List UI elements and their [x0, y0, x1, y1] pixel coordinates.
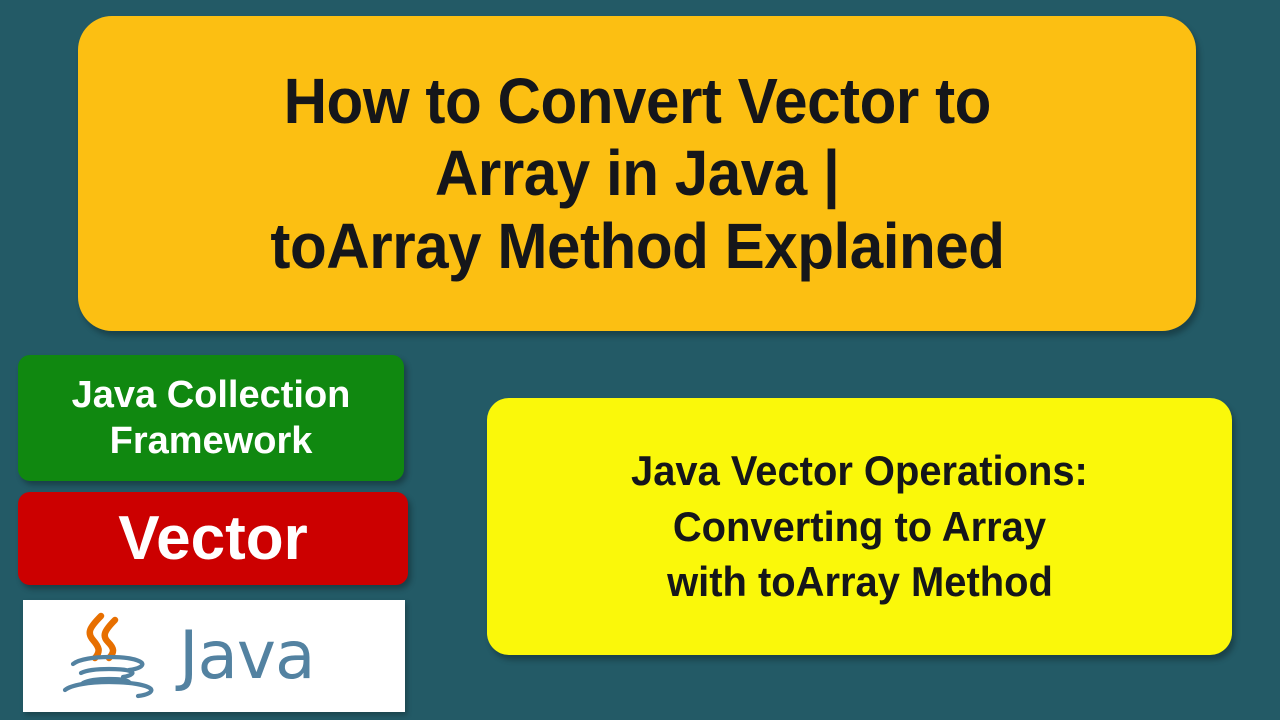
badge-framework-line-2: Framework: [110, 418, 313, 464]
subtitle-card: Java Vector Operations: Converting to Ar…: [487, 398, 1232, 655]
java-wordmark: Java: [179, 623, 314, 689]
title-line-3: toArray Method Explained: [270, 210, 1004, 282]
badge-vector-label: Vector: [118, 508, 308, 570]
subtitle-line-1: Java Vector Operations:: [631, 443, 1088, 498]
title-card: How to Convert Vector to Array in Java |…: [78, 16, 1196, 331]
thumbnail-canvas: How to Convert Vector to Array in Java |…: [0, 0, 1280, 720]
title-line-1: How to Convert Vector to: [283, 65, 990, 137]
badge-vector: Vector: [18, 492, 408, 585]
badge-java-collection-framework: Java Collection Framework: [18, 355, 404, 481]
subtitle-line-3: with toArray Method: [667, 554, 1053, 609]
badge-framework-line-1: Java Collection: [72, 372, 351, 418]
java-logo-card: Java: [23, 600, 405, 712]
java-coffee-cup-icon: [43, 608, 173, 704]
title-line-2: Array in Java |: [435, 137, 839, 209]
subtitle-line-2: Converting to Array: [673, 499, 1046, 554]
